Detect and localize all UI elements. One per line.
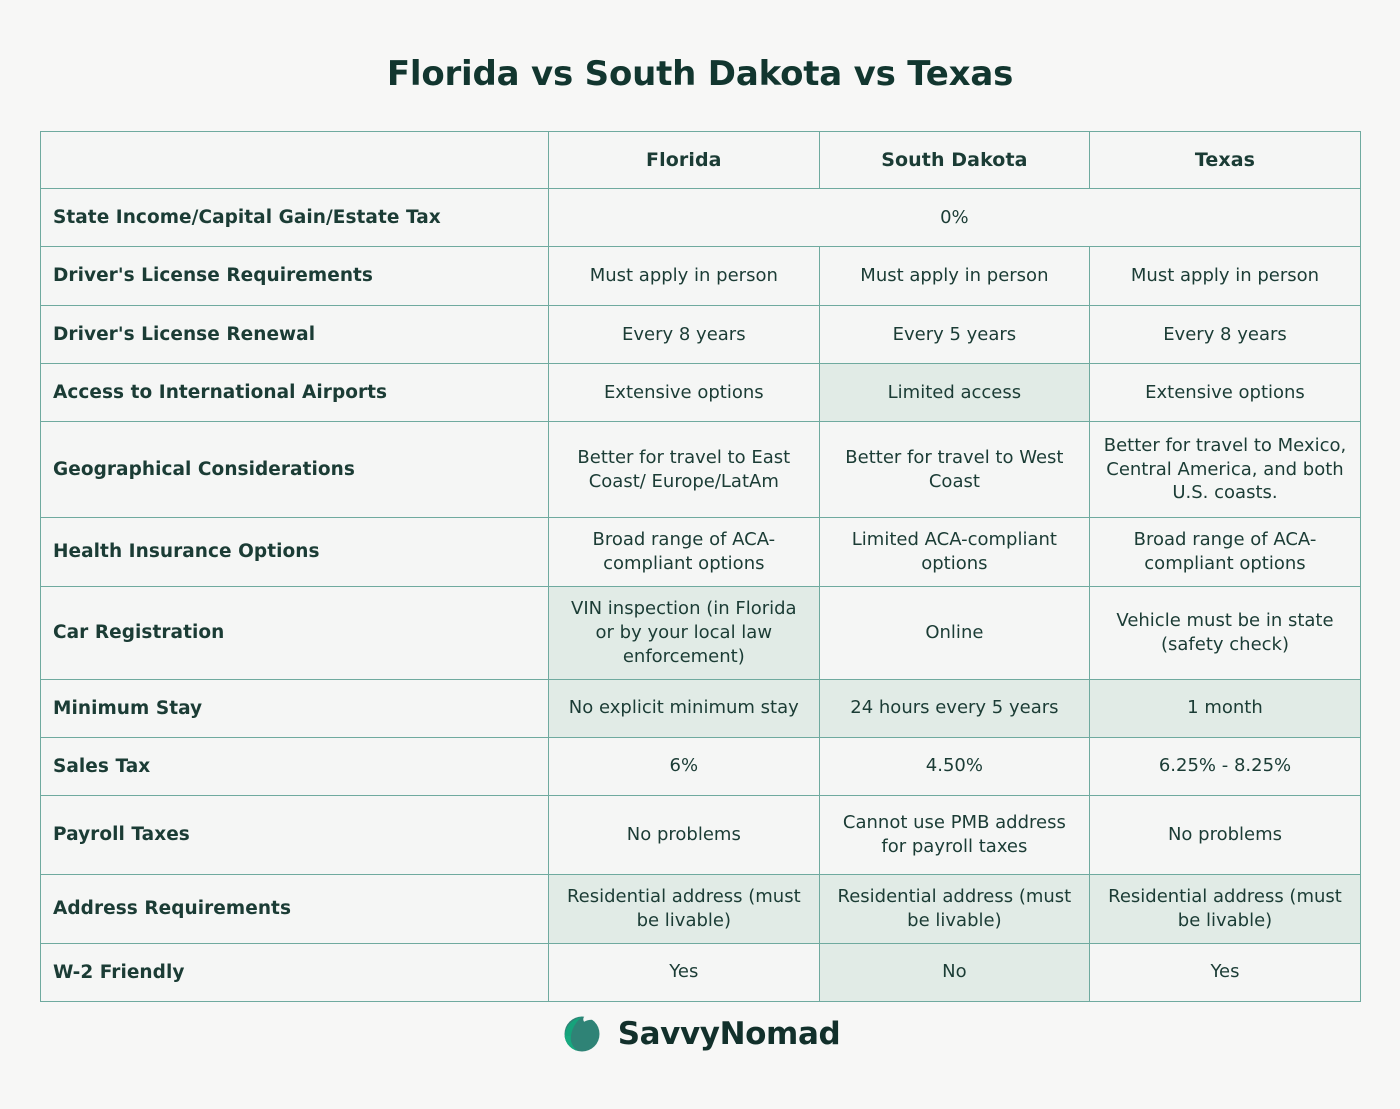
brand-footer: SavvyNomad [0,1012,1400,1056]
cell-geography-florida: Better for travel to East Coast/ Europe/… [549,422,820,518]
table-header-cell-texas: Texas [1090,132,1361,189]
cell-minimum-stay-florida: No explicit minimum stay [549,679,820,737]
comparison-table: Florida South Dakota Texas State Income/… [40,131,1361,1002]
cell-geography-texas: Better for travel to Mexico, Central Ame… [1090,422,1361,518]
table-header-cell-blank [41,132,549,189]
comparison-table-container: Florida South Dakota Texas State Income/… [40,131,1360,1002]
row-label-car-registration: Car Registration [41,587,549,680]
cell-payroll-taxes-south-dakota: Cannot use PMB address for payroll taxes [819,795,1090,874]
table-header-cell-south-dakota: South Dakota [819,132,1090,189]
row-label-drivers-license-requirements: Driver's License Requirements [41,247,549,306]
table-header-cell-florida: Florida [549,132,820,189]
savvynomad-logo-icon [560,1012,604,1056]
row-label-health-insurance-options: Health Insurance Options [41,518,549,587]
cell-payroll-taxes-texas: No problems [1090,795,1361,874]
row-label-address-requirements: Address Requirements [41,874,549,943]
cell-geography-south-dakota: Better for travel to West Coast [819,422,1090,518]
cell-address-requirements-south-dakota: Residential address (must be livable) [819,874,1090,943]
cell-sales-tax-south-dakota: 4.50% [819,737,1090,795]
row-label-minimum-stay: Minimum Stay [41,679,549,737]
row-label-drivers-license-renewal: Driver's License Renewal [41,306,549,364]
cell-w2-friendly-florida: Yes [549,943,820,1001]
cell-minimum-stay-south-dakota: 24 hours every 5 years [819,679,1090,737]
table-row: Sales Tax 6% 4.50% 6.25% - 8.25% [41,737,1361,795]
table-row: W-2 Friendly Yes No Yes [41,943,1361,1001]
row-label-w2-friendly: W-2 Friendly [41,943,549,1001]
cell-health-insurance-south-dakota: Limited ACA-compliant options [819,518,1090,587]
row-label-sales-tax: Sales Tax [41,737,549,795]
cell-car-registration-texas: Vehicle must be in state (safety check) [1090,587,1361,680]
table-row: Address Requirements Residential address… [41,874,1361,943]
table-row: Driver's License Requirements Must apply… [41,247,1361,306]
table-row: Access to International Airports Extensi… [41,364,1361,422]
table-row: State Income/Capital Gain/Estate Tax 0% [41,189,1361,247]
cell-car-registration-south-dakota: Online [819,587,1090,680]
table-header-row: Florida South Dakota Texas [41,132,1361,189]
cell-drivers-license-renewal-florida: Every 8 years [549,306,820,364]
row-label-payroll-taxes: Payroll Taxes [41,795,549,874]
table-body: State Income/Capital Gain/Estate Tax 0% … [41,189,1361,1002]
cell-address-requirements-florida: Residential address (must be livable) [549,874,820,943]
table-row: Minimum Stay No explicit minimum stay 24… [41,679,1361,737]
cell-car-registration-florida: VIN inspection (in Florida or by your lo… [549,587,820,680]
cell-drivers-license-renewal-south-dakota: Every 5 years [819,306,1090,364]
cell-address-requirements-texas: Residential address (must be livable) [1090,874,1361,943]
comparison-infographic: Florida vs South Dakota vs Texas Florida… [0,0,1400,1109]
cell-drivers-license-requirements-south-dakota: Must apply in person [819,247,1090,306]
table-header: Florida South Dakota Texas [41,132,1361,189]
cell-health-insurance-florida: Broad range of ACA-compliant options [549,518,820,587]
row-label-state-income-tax: State Income/Capital Gain/Estate Tax [41,189,549,247]
page-title: Florida vs South Dakota vs Texas [0,54,1400,94]
cell-w2-friendly-south-dakota: No [819,943,1090,1001]
table-row: Health Insurance Options Broad range of … [41,518,1361,587]
cell-drivers-license-requirements-florida: Must apply in person [549,247,820,306]
cell-health-insurance-texas: Broad range of ACA-compliant options [1090,518,1361,587]
table-row: Payroll Taxes No problems Cannot use PMB… [41,795,1361,874]
cell-sales-tax-texas: 6.25% - 8.25% [1090,737,1361,795]
cell-minimum-stay-texas: 1 month [1090,679,1361,737]
cell-drivers-license-requirements-texas: Must apply in person [1090,247,1361,306]
row-label-access-to-international-airports: Access to International Airports [41,364,549,422]
cell-airports-texas: Extensive options [1090,364,1361,422]
table-row: Driver's License Renewal Every 8 years E… [41,306,1361,364]
brand-name: SavvyNomad [618,1019,841,1050]
table-row: Geographical Considerations Better for t… [41,422,1361,518]
row-label-geographical-considerations: Geographical Considerations [41,422,549,518]
table-row: Car Registration VIN inspection (in Flor… [41,587,1361,680]
cell-payroll-taxes-florida: No problems [549,795,820,874]
cell-drivers-license-renewal-texas: Every 8 years [1090,306,1361,364]
cell-w2-friendly-texas: Yes [1090,943,1361,1001]
cell-state-income-tax-all: 0% [549,189,1361,247]
cell-airports-south-dakota: Limited access [819,364,1090,422]
cell-sales-tax-florida: 6% [549,737,820,795]
cell-airports-florida: Extensive options [549,364,820,422]
